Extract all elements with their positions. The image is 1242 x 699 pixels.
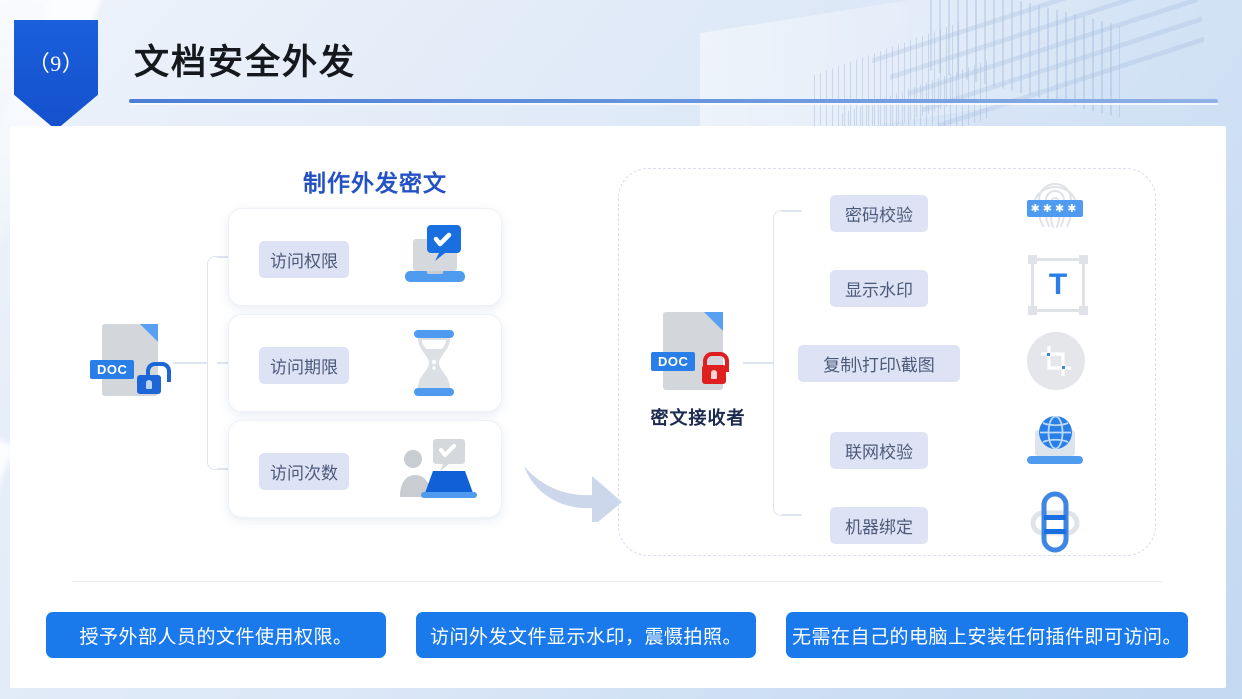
curved-right-arrow-icon <box>518 444 628 522</box>
card-label: 访问次数 <box>259 453 349 490</box>
right-branch-1 <box>782 210 802 212</box>
section-number-badge: （9） <box>14 20 98 130</box>
crop-disabled-icon <box>1023 330 1087 394</box>
document-fold-corner <box>140 324 158 342</box>
slide-canvas: （9） 文档安全外发 制作外发密文 DOC 访问权限 <box>0 0 1242 699</box>
unlock-icon <box>134 362 164 394</box>
slide-header: （9） 文档安全外发 <box>0 0 1242 130</box>
control-label-machine-binding[interactable]: 机器绑定 <box>830 507 928 544</box>
page-title: 文档安全外发 <box>134 34 356 85</box>
globe-laptop-icon <box>1023 416 1087 480</box>
watermark-text-icon: T <box>1023 254 1087 318</box>
control-label-copy-print-screenshot[interactable]: 复制\打印\截图 <box>798 345 960 382</box>
password-stars: ✱✱✱✱ <box>1027 200 1083 217</box>
control-label-watermark[interactable]: 显示水印 <box>830 270 928 307</box>
document-fold-corner <box>704 312 723 331</box>
card-label: 访问期限 <box>259 347 349 384</box>
right-bracket <box>773 210 787 516</box>
hourglass-icon <box>401 326 467 400</box>
footer-callouts: 授予外部人员的文件使用权限。 访问外发文件显示水印，震慑拍照。 无需在自己的电脑… <box>0 601 1242 669</box>
footer-button-2[interactable]: 访问外发文件显示水印，震慑拍照。 <box>416 612 756 658</box>
document-type-tag: DOC <box>90 360 134 379</box>
globe-glyph <box>1039 416 1072 449</box>
receiver-label: 密文接收者 <box>650 404 746 430</box>
selection-frame: T <box>1031 258 1085 312</box>
title-underline <box>129 99 1218 103</box>
padlock-body <box>137 375 161 394</box>
bracket-stub-left <box>173 362 207 364</box>
locked-padlock-icon <box>699 352 729 384</box>
footer-button-3[interactable]: 无需在自己的电脑上安装任何插件即可访问。 <box>786 612 1188 658</box>
card-label: 访问权限 <box>259 241 349 278</box>
document-type-tag: DOC <box>651 352 695 371</box>
chain-glyph <box>1025 491 1085 553</box>
section-divider <box>72 581 1162 582</box>
receiver-bracket-stub <box>743 362 773 364</box>
laptop-check-icon <box>397 223 471 291</box>
feature-card-access-permission[interactable]: 访问权限 <box>228 208 502 306</box>
right-branch-5 <box>782 514 802 516</box>
padlock-body <box>702 365 726 384</box>
fingerprint-password-icon: ✱✱✱✱ <box>1023 178 1087 242</box>
feature-card-access-period[interactable]: 访问期限 <box>228 314 502 412</box>
watermark-glyph: T <box>1034 261 1082 309</box>
feature-card-access-count[interactable]: 访问次数 <box>228 420 502 518</box>
person-laptop-check-icon <box>395 435 479 505</box>
section-number-text: （9） <box>28 46 85 78</box>
control-label-network-check[interactable]: 联网校验 <box>830 432 928 469</box>
section-heading: 制作外发密文 <box>295 164 455 198</box>
crop-tool-glyph <box>1041 346 1071 376</box>
footer-button-1[interactable]: 授予外部人员的文件使用权限。 <box>46 612 386 658</box>
control-label-password-check[interactable]: 密码校验 <box>830 195 928 232</box>
chain-link-icon <box>1023 491 1087 555</box>
